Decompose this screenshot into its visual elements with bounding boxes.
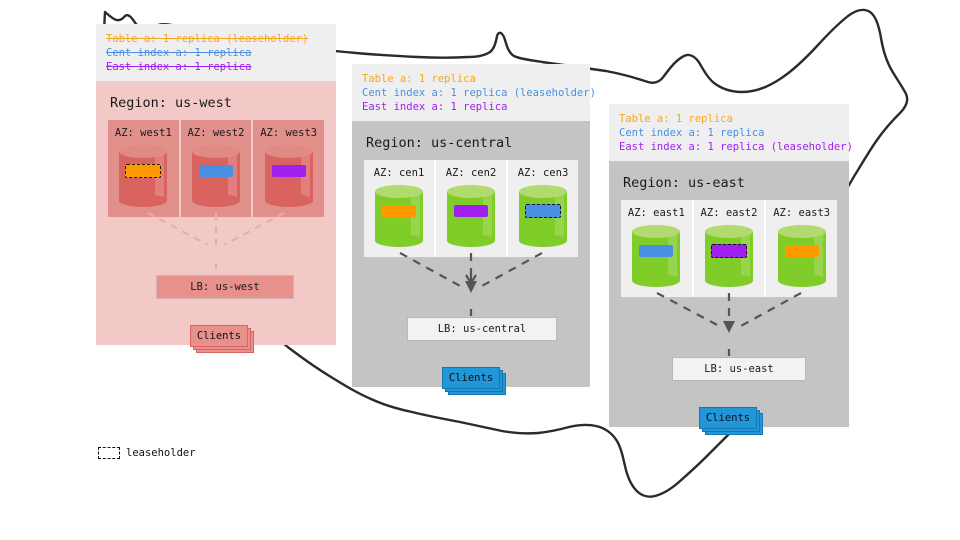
replica-bar-east-index-leaseholder xyxy=(711,244,747,258)
az-label-cen3: AZ: cen3 xyxy=(508,167,578,179)
az-label-west1: AZ: west1 xyxy=(108,127,179,139)
region-body-us-central: Region: us-central AZ: cen1 AZ: cen2 xyxy=(352,121,590,387)
node-cen3[interactable] xyxy=(508,185,578,247)
az-cell-cen3[interactable]: AZ: cen3 xyxy=(508,160,578,257)
legend-line-cent-index: Cent index a: 1 replica xyxy=(106,46,326,60)
legend-line-east-index: East index a: 1 replica xyxy=(106,60,326,74)
diagram-canvas: Table a: 1 replica (leaseholder) Cent in… xyxy=(0,0,960,540)
node-east3[interactable] xyxy=(766,225,837,287)
region-panel-us-west: Table a: 1 replica (leaseholder) Cent in… xyxy=(96,24,336,345)
database-cylinder-icon xyxy=(192,145,240,207)
replica-bar-table-a xyxy=(382,205,416,217)
az-strip-us-east: AZ: east1 AZ: east2 xyxy=(621,200,837,297)
database-cylinder-icon xyxy=(519,185,567,247)
legend-line-table-a: Table a: 1 replica xyxy=(362,72,580,86)
replica-bar-east-index xyxy=(272,165,306,177)
az-strip-us-west: AZ: west1 AZ: west2 xyxy=(108,120,324,217)
az-cell-cen2[interactable]: AZ: cen2 xyxy=(436,160,508,257)
replica-bar-table-a xyxy=(785,245,819,257)
legend-us-west: Table a: 1 replica (leaseholder) Cent in… xyxy=(96,24,336,81)
clients-us-west[interactable]: Clients xyxy=(190,325,252,351)
dashed-rect-icon xyxy=(98,447,120,459)
clients-us-east[interactable]: Clients xyxy=(699,407,761,433)
load-balancer-us-central[interactable]: LB: us-central xyxy=(407,317,557,341)
az-label-west2: AZ: west2 xyxy=(181,127,252,139)
az-label-east3: AZ: east3 xyxy=(766,207,837,219)
region-body-us-west: Region: us-west AZ: west1 AZ: west2 xyxy=(96,81,336,345)
az-label-west3: AZ: west3 xyxy=(253,127,324,139)
region-title-us-central: Region: us-central xyxy=(366,135,578,151)
legend-line-table-a: Table a: 1 replica (leaseholder) xyxy=(106,32,326,46)
legend-line-cent-index: Cent index a: 1 replica xyxy=(619,126,839,140)
legend-line-table-a: Table a: 1 replica xyxy=(619,112,839,126)
legend-line-cent-index: Cent index a: 1 replica (leaseholder) xyxy=(362,86,580,100)
region-panel-us-central: Table a: 1 replica Cent index a: 1 repli… xyxy=(352,64,590,387)
replica-bar-cent-index xyxy=(639,245,673,257)
legend-us-central: Table a: 1 replica Cent index a: 1 repli… xyxy=(352,64,590,121)
az-label-cen2: AZ: cen2 xyxy=(436,167,506,179)
region-panel-us-east: Table a: 1 replica Cent index a: 1 repli… xyxy=(609,104,849,427)
database-cylinder-icon xyxy=(705,225,753,287)
clients-label: Clients xyxy=(442,367,500,389)
database-cylinder-icon xyxy=(632,225,680,287)
database-cylinder-icon xyxy=(778,225,826,287)
region-title-us-east: Region: us-east xyxy=(623,175,837,191)
replica-bar-east-index xyxy=(454,205,488,217)
node-west1[interactable] xyxy=(108,145,179,207)
node-cen2[interactable] xyxy=(436,185,506,247)
database-cylinder-icon xyxy=(119,145,167,207)
legend-us-east: Table a: 1 replica Cent index a: 1 repli… xyxy=(609,104,849,161)
database-cylinder-icon xyxy=(375,185,423,247)
az-cell-west3[interactable]: AZ: west3 xyxy=(253,120,324,217)
az-strip-us-central: AZ: cen1 AZ: cen2 xyxy=(364,160,578,257)
node-west3[interactable] xyxy=(253,145,324,207)
node-west2[interactable] xyxy=(181,145,252,207)
node-east2[interactable] xyxy=(694,225,765,287)
az-cell-west2[interactable]: AZ: west2 xyxy=(181,120,254,217)
replica-bar-table-a-leaseholder xyxy=(125,164,161,178)
az-label-cen1: AZ: cen1 xyxy=(364,167,434,179)
leaseholder-legend: leaseholder xyxy=(98,447,196,459)
node-cen1[interactable] xyxy=(364,185,434,247)
replica-bar-cent-index xyxy=(199,165,233,177)
region-title-us-west: Region: us-west xyxy=(110,95,324,111)
az-cell-east1[interactable]: AZ: east1 xyxy=(621,200,694,297)
az-cell-cen1[interactable]: AZ: cen1 xyxy=(364,160,436,257)
az-cell-west1[interactable]: AZ: west1 xyxy=(108,120,181,217)
az-cell-east3[interactable]: AZ: east3 xyxy=(766,200,837,297)
load-balancer-us-east[interactable]: LB: us-east xyxy=(672,357,806,381)
node-east1[interactable] xyxy=(621,225,692,287)
legend-line-east-index: East index a: 1 replica (leaseholder) xyxy=(619,140,839,154)
az-cell-east2[interactable]: AZ: east2 xyxy=(694,200,767,297)
leaseholder-legend-label: leaseholder xyxy=(126,447,196,459)
database-cylinder-icon xyxy=(447,185,495,247)
az-label-east2: AZ: east2 xyxy=(694,207,765,219)
database-cylinder-icon xyxy=(265,145,313,207)
clients-us-central[interactable]: Clients xyxy=(442,367,504,393)
load-balancer-us-west[interactable]: LB: us-west xyxy=(156,275,294,299)
clients-label: Clients xyxy=(190,325,248,347)
clients-label: Clients xyxy=(699,407,757,429)
legend-line-east-index: East index a: 1 replica xyxy=(362,100,580,114)
replica-bar-cent-index-leaseholder xyxy=(525,204,561,218)
az-label-east1: AZ: east1 xyxy=(621,207,692,219)
region-body-us-east: Region: us-east AZ: east1 AZ: east2 xyxy=(609,161,849,427)
